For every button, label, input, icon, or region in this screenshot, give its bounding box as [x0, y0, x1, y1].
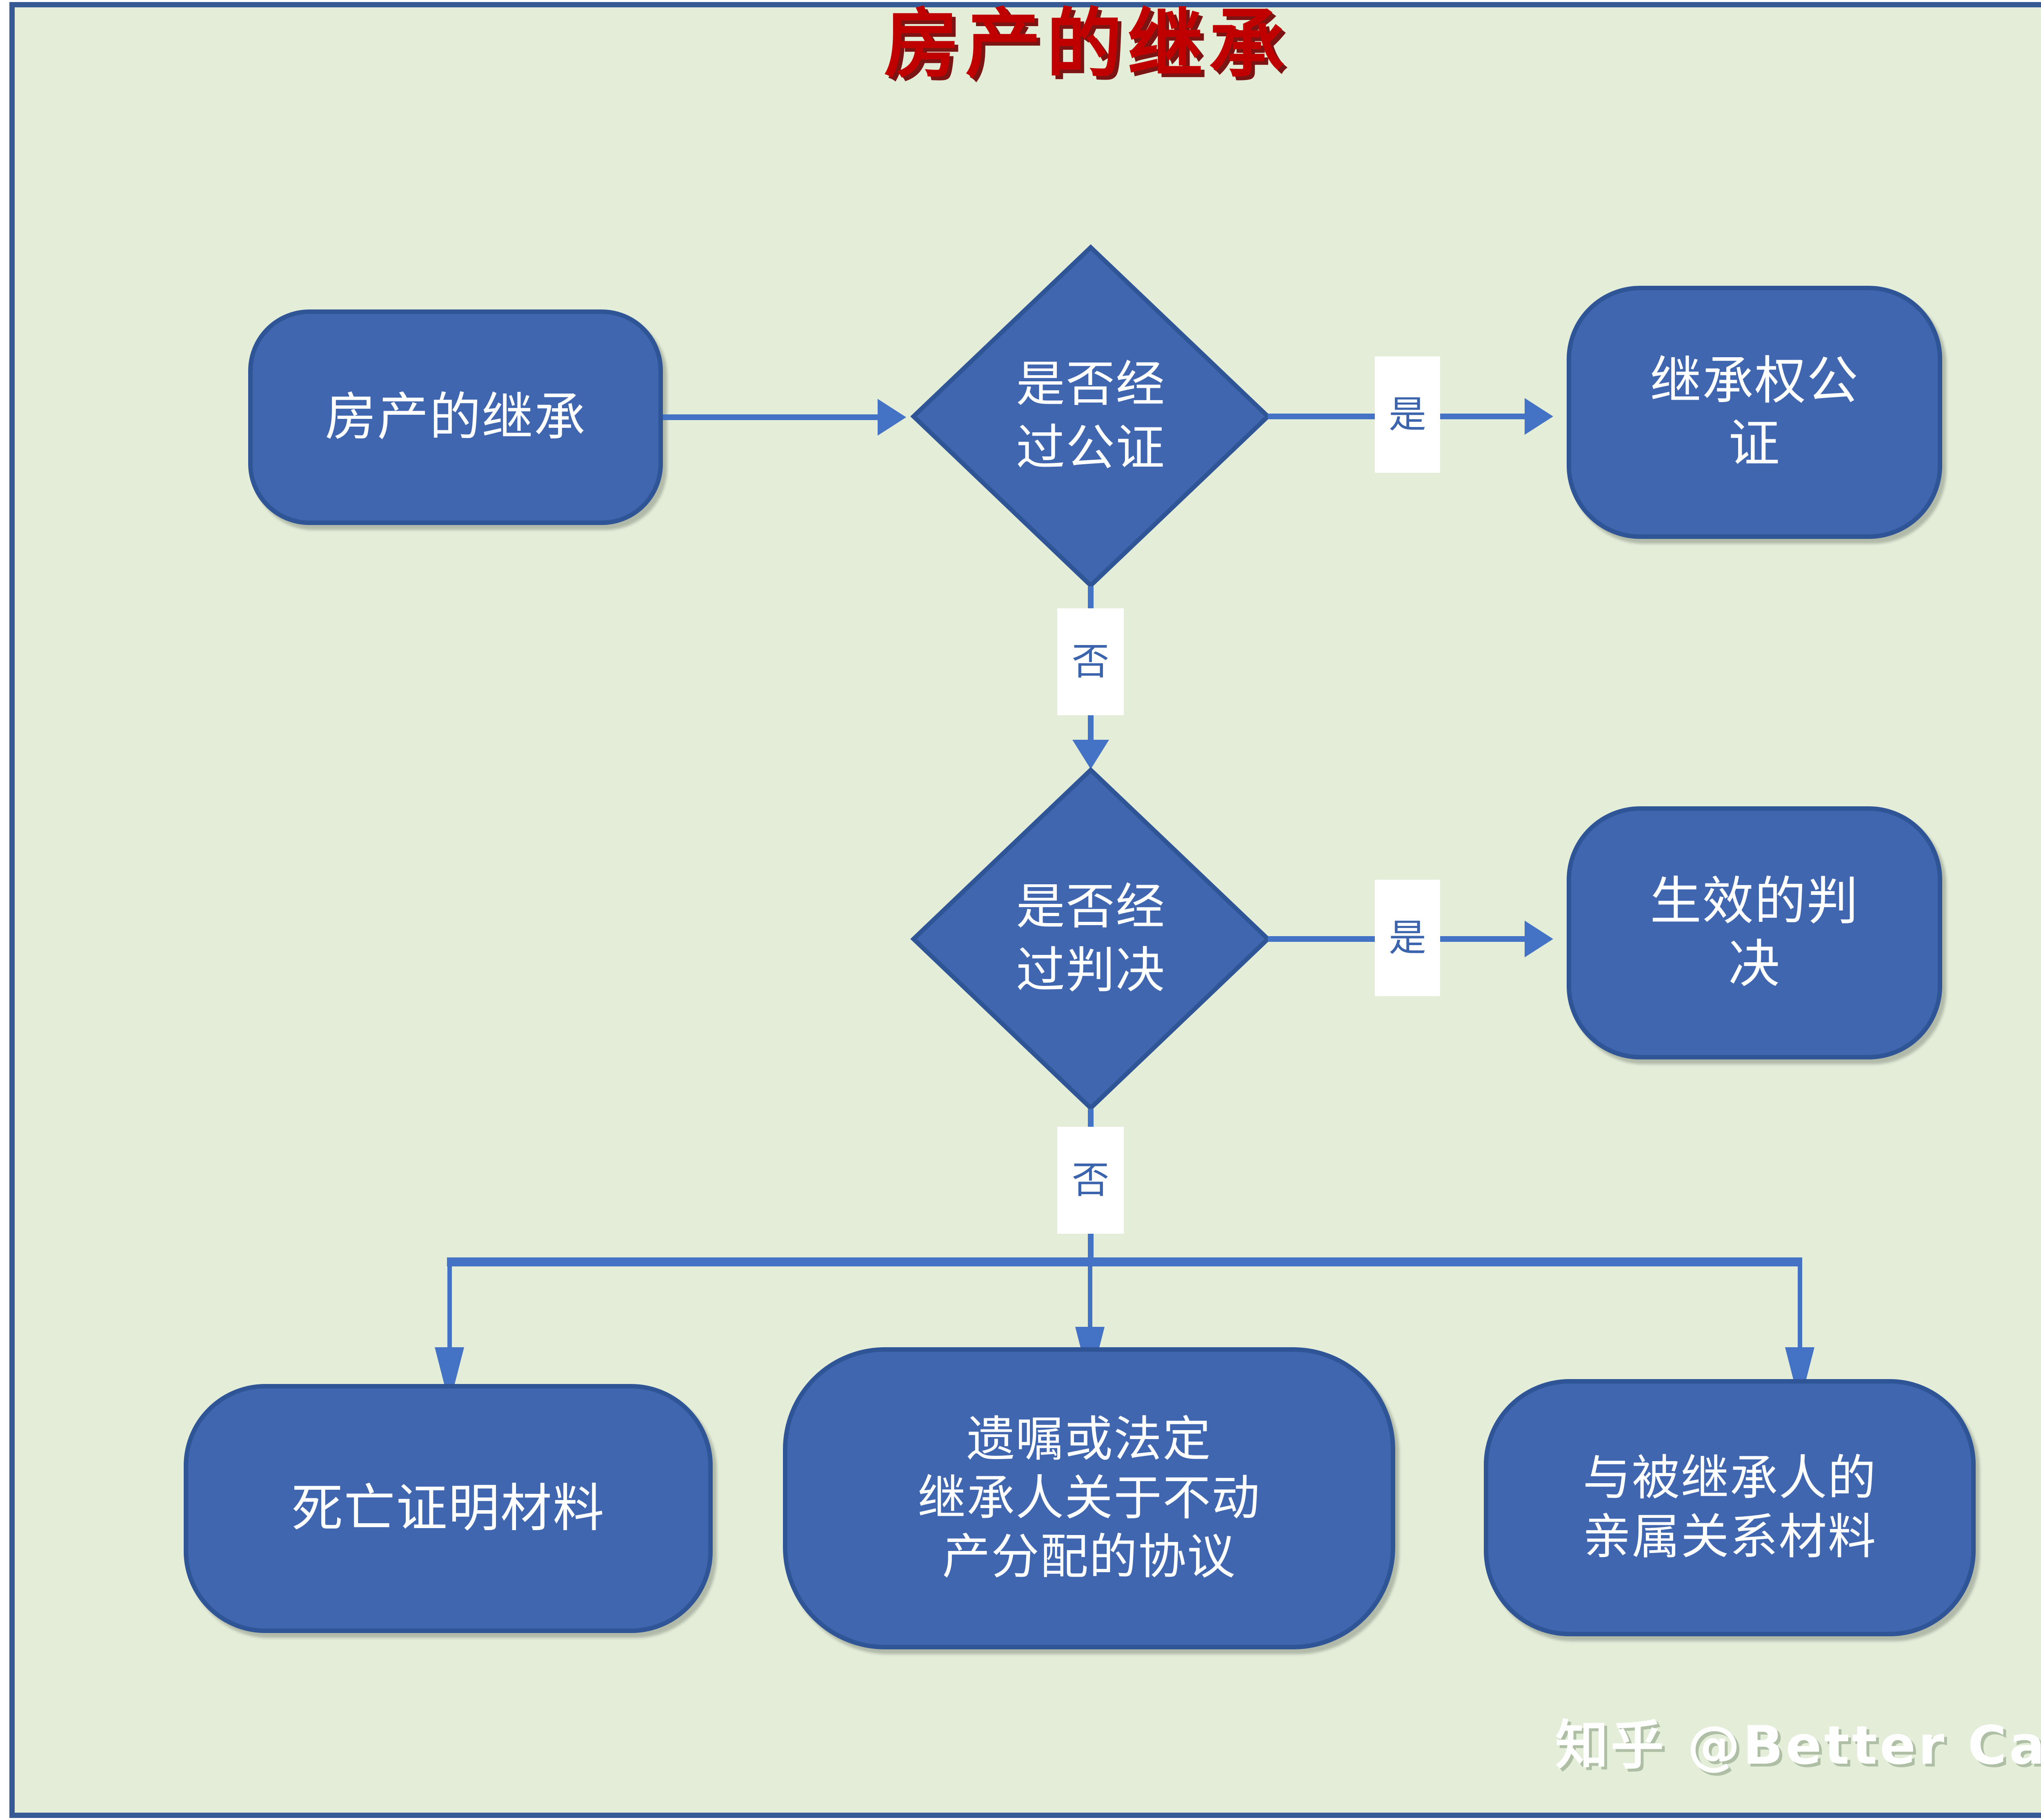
- connector-branch-middle: [1088, 1260, 1092, 1334]
- connector-branch-right: [1798, 1260, 1802, 1355]
- connector-branch-left: [447, 1260, 452, 1355]
- watermark: 知乎 @Better Call: [1555, 1702, 2041, 1779]
- arrowhead-start-to-decision1: [878, 399, 906, 436]
- node-inheritance-notarization: 继承权公 证: [1567, 286, 1942, 539]
- node-death-certificate: 死亡证明材料: [184, 1384, 713, 1633]
- node-start-line-1: 房产的继承: [253, 386, 658, 449]
- edge-label-yes-2-text: 是: [1389, 919, 1426, 957]
- node-doc2-line-2: 继承人关于不动: [787, 1469, 1391, 1528]
- node-decision-judgment: 是否经 过判决: [911, 768, 1270, 1110]
- arrowhead-decision1-no: [1072, 740, 1109, 769]
- diamond-shape-2: [911, 768, 1270, 1110]
- node-result1-line-1: 继承权公: [1571, 349, 1938, 412]
- node-doc2-line-1: 遗嘱或法定: [787, 1410, 1391, 1469]
- node-result2-line-2: 决: [1571, 933, 1938, 996]
- arrowhead-decision2-yes: [1525, 921, 1553, 957]
- edge-label-yes-1-text: 是: [1389, 396, 1426, 434]
- page-title: 房产的继承: [0, 4, 2041, 83]
- node-start: 房产的继承: [248, 309, 663, 525]
- node-kinship-materials: 与被继承人的 亲属关系材料: [1484, 1379, 1976, 1636]
- node-doc3-line-1: 与被继承人的: [1488, 1449, 1971, 1508]
- node-doc1-line-1: 死亡证明材料: [188, 1477, 708, 1540]
- edge-label-no-1: 否: [1057, 608, 1124, 715]
- node-effective-judgment: 生效的判 决: [1567, 806, 1942, 1059]
- node-doc2-line-3: 产分配的协议: [787, 1528, 1391, 1586]
- edge-label-yes-1: 是: [1375, 356, 1440, 473]
- node-decision-notarized: 是否经 过公证: [911, 245, 1270, 588]
- connector-start-to-decision1: [663, 414, 879, 420]
- edge-label-no-2-text: 否: [1072, 1161, 1109, 1199]
- edge-label-yes-2: 是: [1375, 880, 1440, 996]
- arrowhead-decision1-yes: [1525, 398, 1553, 435]
- node-result2-line-1: 生效的判: [1571, 870, 1938, 933]
- node-result1-line-2: 证: [1571, 412, 1938, 475]
- flowchart-canvas: 房产的继承 房产的继承 是否经 过公证 是 继承权公 证: [0, 0, 2041, 1820]
- edge-label-no-2: 否: [1057, 1127, 1124, 1234]
- diamond-shape-1: [911, 245, 1270, 588]
- connector-branch-bus: [447, 1257, 1802, 1266]
- node-doc3-line-2: 亲属关系材料: [1488, 1508, 1971, 1566]
- edge-label-no-1-text: 否: [1072, 643, 1109, 681]
- node-will-or-heir-agreement: 遗嘱或法定 继承人关于不动 产分配的协议: [783, 1347, 1395, 1649]
